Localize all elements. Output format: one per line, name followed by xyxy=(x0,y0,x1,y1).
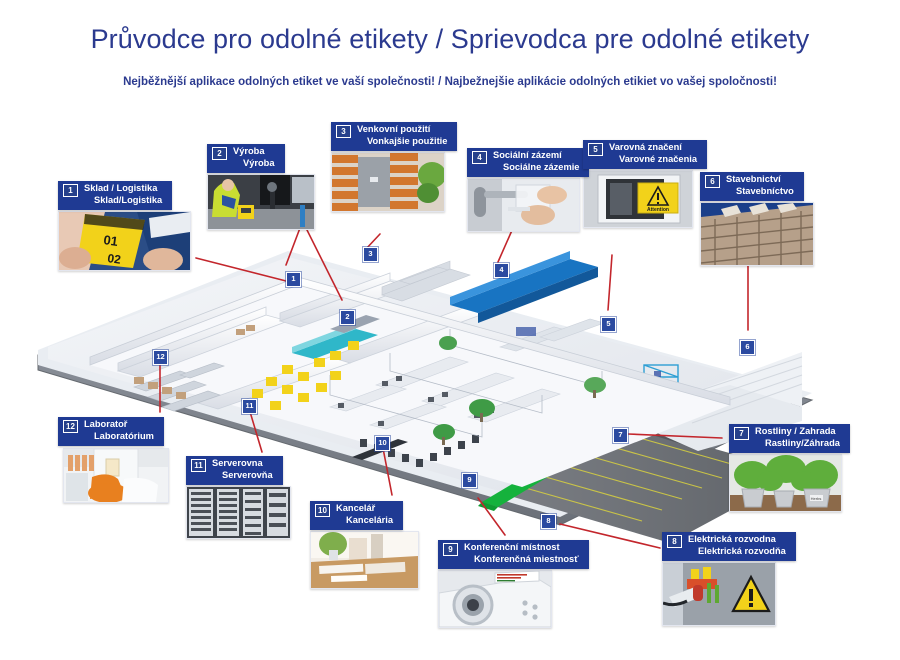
callout-4-number: 4 xyxy=(467,148,491,177)
callout-1[interactable]: 1 Sklad / Logistika Sklad/Logistika xyxy=(58,181,172,210)
callout-5-plate[interactable]: 5 Varovná značení Varovné značenia xyxy=(583,140,707,169)
warehouse-tag-2-text: 02 xyxy=(107,251,122,267)
callout-6-plate[interactable]: 6 Stavebnictví Stavebníctvo xyxy=(700,172,804,201)
callout-11-plate[interactable]: 11 Serverovna Serverovňa xyxy=(186,456,283,485)
callout-7-plate[interactable]: 7 Rostliny / Zahrada Rastliny/Záhrada xyxy=(729,424,850,453)
photo-projector-label xyxy=(438,570,552,628)
plan-marker-7[interactable]: 7 xyxy=(613,428,628,443)
callout-8-text: Elektrická rozvodna Elektrická rozvodňa xyxy=(686,532,796,561)
callout-9-text: Konferenční místnost Konferenčná miestno… xyxy=(462,540,589,569)
callout-11-text: Serverovna Serverovňa xyxy=(210,456,283,485)
photo-outdoor-wood-facade xyxy=(331,152,445,212)
callout-10-text: Kancelář Kancelária xyxy=(334,501,403,530)
photo-laboratory-glove-tubes xyxy=(63,448,169,503)
photo-office-desk xyxy=(310,531,419,589)
plan-marker-5[interactable]: 5 xyxy=(601,317,616,332)
callout-12-plate[interactable]: 12 Laboratoř Laboratórium xyxy=(58,417,164,446)
callout-2-text: Výroba Výroba xyxy=(231,144,285,173)
photo-plants-pots: Herbs xyxy=(729,454,842,512)
plan-marker-10[interactable]: 10 xyxy=(375,436,390,451)
callout-9[interactable]: 9 Konferenční místnost Konferenčná miest… xyxy=(438,540,589,569)
photo-door-handle-label xyxy=(467,178,580,232)
callout-10-plate[interactable]: 10 Kancelář Kancelária xyxy=(310,501,403,530)
plan-marker-12[interactable]: 12 xyxy=(153,350,168,365)
callout-10-number: 10 xyxy=(310,501,334,530)
callout-1-plate[interactable]: 1 Sklad / Logistika Sklad/Logistika xyxy=(58,181,172,210)
photo-construction-scaffolding xyxy=(700,202,814,266)
poster-canvas: Průvodce pro odolné etikety / Sprievodca… xyxy=(0,0,900,660)
photo-electrical-connector-warning xyxy=(662,562,776,626)
callout-12-text: Laboratoř Laboratórium xyxy=(82,417,164,446)
plan-marker-4[interactable]: 4 xyxy=(494,263,509,278)
callout-8-plate[interactable]: 8 Elektrická rozvodna Elektrická rozvodň… xyxy=(662,532,796,561)
plan-marker-2[interactable]: 2 xyxy=(340,310,355,325)
callout-2[interactable]: 2 Výroba Výroba xyxy=(207,144,285,173)
callout-4[interactable]: 4 Sociální zázemí Sociálne zázemie xyxy=(467,148,589,177)
callout-6-text: Stavebnictví Stavebníctvo xyxy=(724,172,804,201)
callout-7-text: Rostliny / Zahrada Rastliny/Záhrada xyxy=(753,424,850,453)
callout-8-number: 8 xyxy=(662,532,686,561)
plan-marker-3[interactable]: 3 xyxy=(363,247,378,262)
plan-marker-11[interactable]: 11 xyxy=(242,399,257,414)
callout-11[interactable]: 11 Serverovna Serverovňa xyxy=(186,456,283,485)
callout-10[interactable]: 10 Kancelář Kancelária xyxy=(310,501,403,530)
plan-marker-9[interactable]: 9 xyxy=(462,473,477,488)
callout-5-number: 5 xyxy=(583,140,607,169)
callout-1-text: Sklad / Logistika Sklad/Logistika xyxy=(82,181,172,210)
callout-3-number: 3 xyxy=(331,122,355,151)
callout-12[interactable]: 12 Laboratoř Laboratórium xyxy=(58,417,164,446)
callout-11-number: 11 xyxy=(186,456,210,485)
callout-7[interactable]: 7 Rostliny / Zahrada Rastliny/Záhrada xyxy=(729,424,850,453)
callout-6[interactable]: 6 Stavebnictví Stavebníctvo xyxy=(700,172,804,201)
callout-5-text: Varovná značení Varovné značenia xyxy=(607,140,707,169)
callout-3-plate[interactable]: 3 Venkovní použití Vonkajšie použitie xyxy=(331,122,457,151)
plan-marker-6[interactable]: 6 xyxy=(740,340,755,355)
callout-6-number: 6 xyxy=(700,172,724,201)
plant-pot-tag-text: Herbs xyxy=(811,496,822,501)
callout-2-plate[interactable]: 2 Výroba Výroba xyxy=(207,144,285,173)
plan-marker-8[interactable]: 8 xyxy=(541,514,556,529)
callout-3[interactable]: 3 Venkovní použití Vonkajšie použitie xyxy=(331,122,457,151)
photo-attention-warning-sign: Attention xyxy=(583,170,693,228)
callout-4-text: Sociální zázemí Sociálne zázemie xyxy=(491,148,589,177)
photo-production-worker xyxy=(207,174,315,230)
warehouse-tag-1-text: 01 xyxy=(103,232,119,249)
attention-label-text: Attention xyxy=(647,207,669,213)
photo-warehouse-yellow-labels: 01 02 xyxy=(58,211,191,271)
callout-7-number: 7 xyxy=(729,424,753,453)
callout-9-plate[interactable]: 9 Konferenční místnost Konferenčná miest… xyxy=(438,540,589,569)
callout-1-number: 1 xyxy=(58,181,82,210)
callout-5[interactable]: 5 Varovná značení Varovné značenia xyxy=(583,140,707,169)
photo-server-racks xyxy=(186,486,291,539)
callout-8[interactable]: 8 Elektrická rozvodna Elektrická rozvodň… xyxy=(662,532,796,561)
callout-4-plate[interactable]: 4 Sociální zázemí Sociálne zázemie xyxy=(467,148,589,177)
callout-2-number: 2 xyxy=(207,144,231,173)
callout-3-text: Venkovní použití Vonkajšie použitie xyxy=(355,122,457,151)
callout-12-number: 12 xyxy=(58,417,82,446)
plan-marker-1[interactable]: 1 xyxy=(286,272,301,287)
callout-9-number: 9 xyxy=(438,540,462,569)
